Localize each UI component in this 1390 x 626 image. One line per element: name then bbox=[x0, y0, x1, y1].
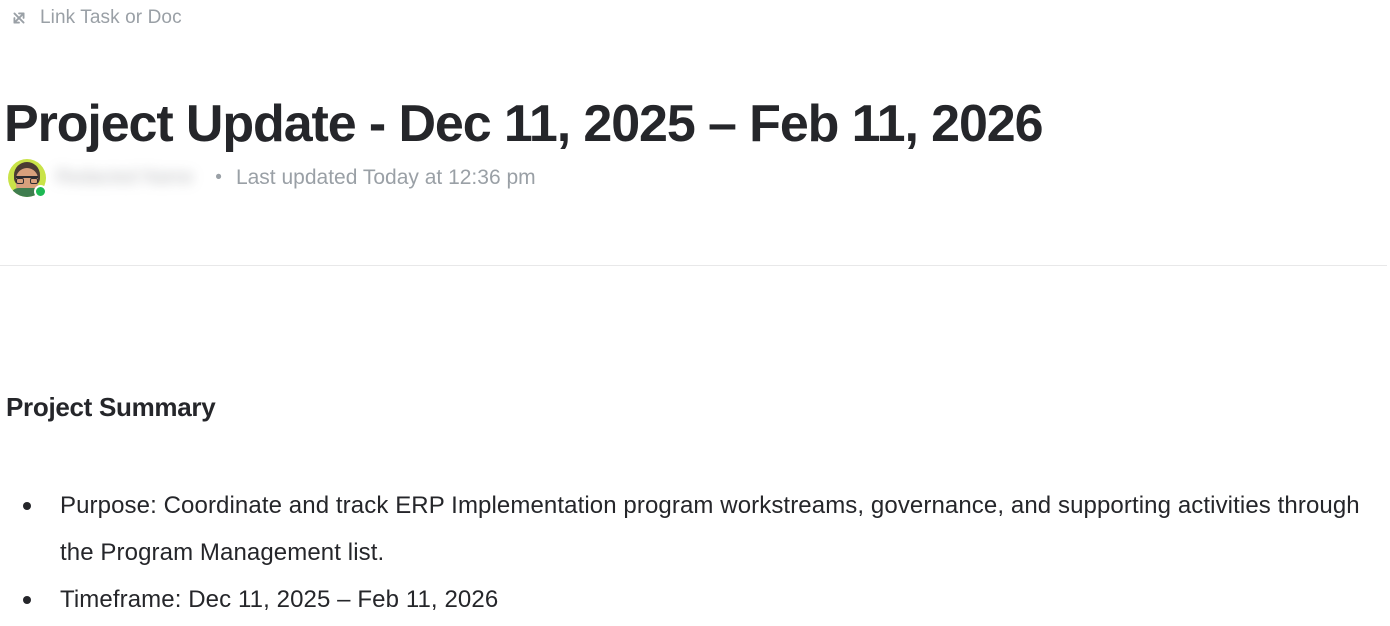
link-task-or-doc-label: Link Task or Doc bbox=[40, 7, 182, 29]
document-meta: Redacted Name • Last updated Today at 12… bbox=[8, 158, 536, 198]
avatar[interactable] bbox=[8, 159, 46, 197]
list-item-text: Purpose: Coordinate and track ERP Implem… bbox=[60, 482, 1390, 576]
list-item-text: Timeframe: Dec 11, 2025 – Feb 11, 2026 bbox=[60, 576, 1390, 623]
author-name: Redacted Name bbox=[56, 166, 193, 190]
bullet-icon bbox=[23, 502, 31, 510]
project-summary-bullet-list: Purpose: Coordinate and track ERP Implem… bbox=[0, 482, 1390, 623]
list-item: Timeframe: Dec 11, 2025 – Feb 11, 2026 bbox=[0, 576, 1390, 623]
avatar-glasses-icon bbox=[16, 176, 38, 183]
link-task-or-doc-icon bbox=[8, 7, 30, 29]
page-title: Project Update - Dec 11, 2025 – Feb 11, … bbox=[4, 93, 1042, 155]
bullet-icon bbox=[23, 596, 31, 604]
section-heading-project-summary: Project Summary bbox=[6, 390, 215, 424]
link-task-or-doc-button[interactable]: Link Task or Doc bbox=[8, 4, 182, 32]
list-item: Purpose: Coordinate and track ERP Implem… bbox=[0, 482, 1390, 576]
last-updated-text: Last updated Today at 12:36 pm bbox=[236, 165, 536, 191]
header-divider bbox=[0, 265, 1387, 266]
document-page: Link Task or Doc Project Update - Dec 11… bbox=[0, 0, 1390, 626]
status-badge bbox=[34, 185, 47, 198]
meta-separator: • bbox=[215, 166, 222, 190]
